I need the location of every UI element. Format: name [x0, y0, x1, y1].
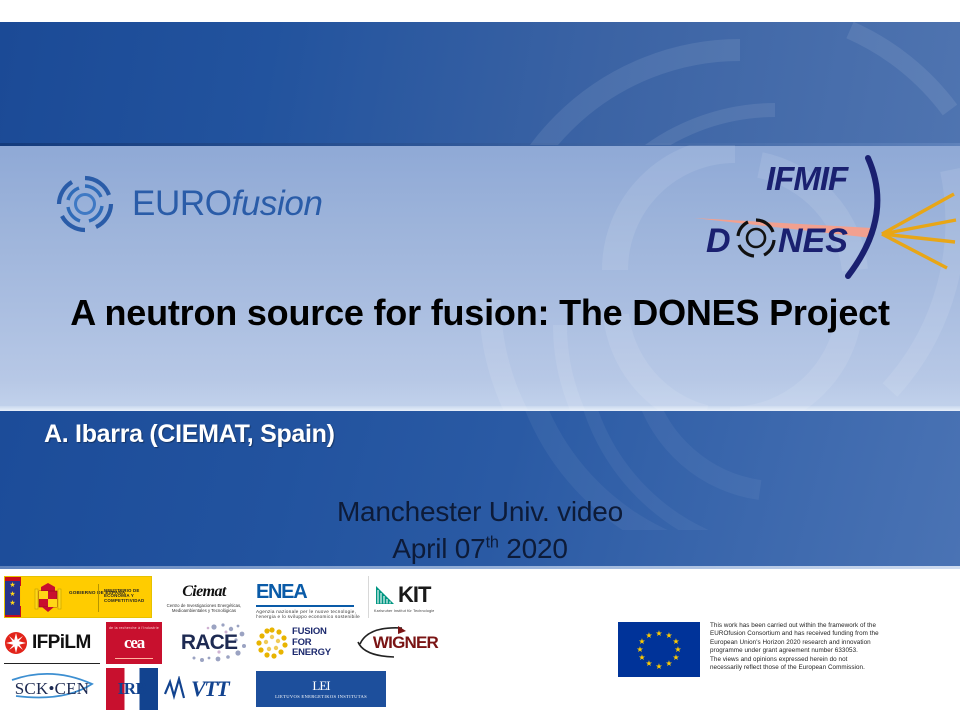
dones-arc-shape: [848, 158, 877, 276]
lei-subtitle: LIETUVOS ENERGETIKOS INSTITUTAS: [275, 694, 367, 699]
ifpilm-wordmark: IFPiLM: [32, 632, 91, 654]
venue-line: Manchester Univ. video: [46, 494, 914, 531]
eu-funding-block: ★★ ★★ ★★ ★★ ★★ ★★ This work has been car…: [618, 622, 906, 677]
eurofusion-wordmark: EUROfusion: [132, 184, 323, 224]
logo-gobierno-espana: ★★★ GOBIERNO DE ESPAÑA MINISTERIO DE ECO…: [4, 576, 152, 618]
svg-text:★: ★: [665, 659, 672, 668]
eu-stars-strip-icon: ★★★: [5, 581, 20, 615]
logo-ciemat: Ciemat Centro de Investigaciones Energét…: [158, 576, 250, 618]
header-band-dark-blue: [0, 22, 960, 145]
irb-wordmark: IRB: [106, 668, 158, 710]
eu-flag-icon: ★★ ★★ ★★ ★★ ★★ ★★: [618, 622, 700, 677]
funding-line-5: The views and opinions expressed herein …: [710, 656, 906, 664]
spain-coat-of-arms-icon: [31, 581, 65, 615]
svg-text:★: ★: [672, 653, 679, 662]
gobierno-line2: MINISTERIO DE ECONOMÍA Y COMPETITIVIDAD: [104, 588, 151, 604]
f4e-line3: ENERGY: [292, 648, 331, 659]
cea-underline: [115, 658, 153, 659]
ifpilm-starburst-icon: [4, 631, 28, 655]
date-prefix: April 07: [392, 533, 485, 564]
svg-text:★: ★: [655, 629, 662, 638]
date-line: April 07th 2020: [46, 531, 914, 568]
sck-cen-wordmark: SCK•CEN: [15, 679, 89, 699]
logo-lei: LEI LIETUVOS ENERGETIKOS INSTITUTAS: [256, 671, 386, 707]
dones-nes-text: NES: [778, 222, 848, 260]
enea-rule: [256, 605, 354, 607]
ifmif-dones-logo: IFMIF D NES: [672, 152, 957, 280]
svg-text:★: ★: [636, 645, 643, 654]
eu-funding-text: This work has been carried out within th…: [710, 622, 906, 672]
funding-line-6: necessarily reflect those of the Europea…: [710, 664, 906, 672]
enea-wordmark: ENEA: [256, 581, 362, 604]
logo-race: RACE: [168, 622, 250, 664]
presentation-title-slide: EUROfusion IFMIF D: [0, 0, 960, 720]
logo-fusion-for-energy: FUSION FOR ENERGY: [256, 622, 348, 664]
date-ordinal-suffix: th: [486, 534, 499, 552]
f4e-ring-icon: [256, 627, 288, 659]
spain-divider: [98, 584, 99, 612]
partner-logos: ★★★ GOBIERNO DE ESPAÑA MINISTERIO DE ECO…: [4, 574, 454, 712]
logo-row-3: SCK•CEN IRB VTT LEI LIETUV: [4, 666, 454, 712]
logo-enea: ENEA Agenzia nazionale per le nuove tecn…: [256, 576, 362, 618]
funding-line-2: EUROfusion Consortium and has received f…: [710, 630, 906, 638]
wigner-swoosh-icon: [354, 622, 440, 662]
race-wordmark: RACE: [181, 631, 237, 655]
funding-line-3: European Union's Horizon 2020 research a…: [710, 639, 906, 647]
logo-sck-cen: SCK•CEN: [4, 668, 100, 710]
cea-wordmark: cea: [106, 633, 162, 653]
ciemat-subtitle: Centro de Investigaciones Energéticas, M…: [158, 603, 250, 613]
funding-line-1: This work has been carried out within th…: [710, 622, 906, 630]
svg-text:★: ★: [638, 653, 645, 662]
cea-tagline: de la recherche à l'industrie: [106, 626, 162, 630]
dones-ifmif-text: IFMIF: [766, 160, 849, 197]
date-year: 2020: [499, 533, 568, 564]
svg-text:★: ★: [645, 631, 652, 640]
svg-text:★: ★: [655, 662, 662, 671]
logo-row-1: ★★★ GOBIERNO DE ESPAÑA MINISTERIO DE ECO…: [4, 574, 454, 620]
lei-monogram: LEI: [312, 679, 329, 692]
eurofusion-ring-icon: [52, 171, 118, 237]
eurofusion-word-fusion: fusion: [232, 184, 323, 223]
dones-neutron-rays-icon: [882, 194, 956, 268]
logo-row-2: IFPiLM de la recherche à l'industrie cea: [4, 620, 454, 666]
logo-kit: KIT Karlsruher Institut für Technologie: [368, 576, 450, 618]
logo-cea: de la recherche à l'industrie cea: [106, 622, 162, 664]
eurofusion-logo: EUROfusion: [52, 168, 352, 240]
logo-ifpilm: IFPiLM: [4, 622, 100, 664]
svg-text:★: ★: [645, 659, 652, 668]
eurofusion-word-euro: EURO: [132, 184, 232, 223]
kit-wordmark: KIT: [398, 582, 430, 608]
slide-title: A neutron source for fusion: The DONES P…: [46, 290, 914, 337]
vtt-wordmark: VTT: [191, 676, 228, 702]
vtt-wave-icon: [164, 676, 190, 702]
logo-vtt: VTT: [164, 668, 250, 710]
kit-fan-icon: [374, 584, 396, 606]
logo-irb: IRB: [106, 668, 158, 710]
logo-wigner: WIGNER: [354, 622, 440, 664]
funding-line-4: programme under grant agreement number 6…: [710, 647, 906, 655]
enea-subtitle: Agenzia nazionale per le nuove tecnologi…: [256, 609, 362, 620]
dones-d-letter: D: [706, 222, 731, 260]
f4e-wordmark: FUSION FOR ENERGY: [292, 627, 331, 659]
slide-author: A. Ibarra (CIEMAT, Spain): [44, 420, 564, 449]
ciemat-wordmark: Ciemat: [158, 583, 250, 601]
slide-venue-date: Manchester Univ. video April 07th 2020: [46, 494, 914, 568]
kit-subtitle: Karlsruher Institut für Technologie: [374, 609, 450, 613]
dones-ring-icon: [738, 220, 774, 256]
